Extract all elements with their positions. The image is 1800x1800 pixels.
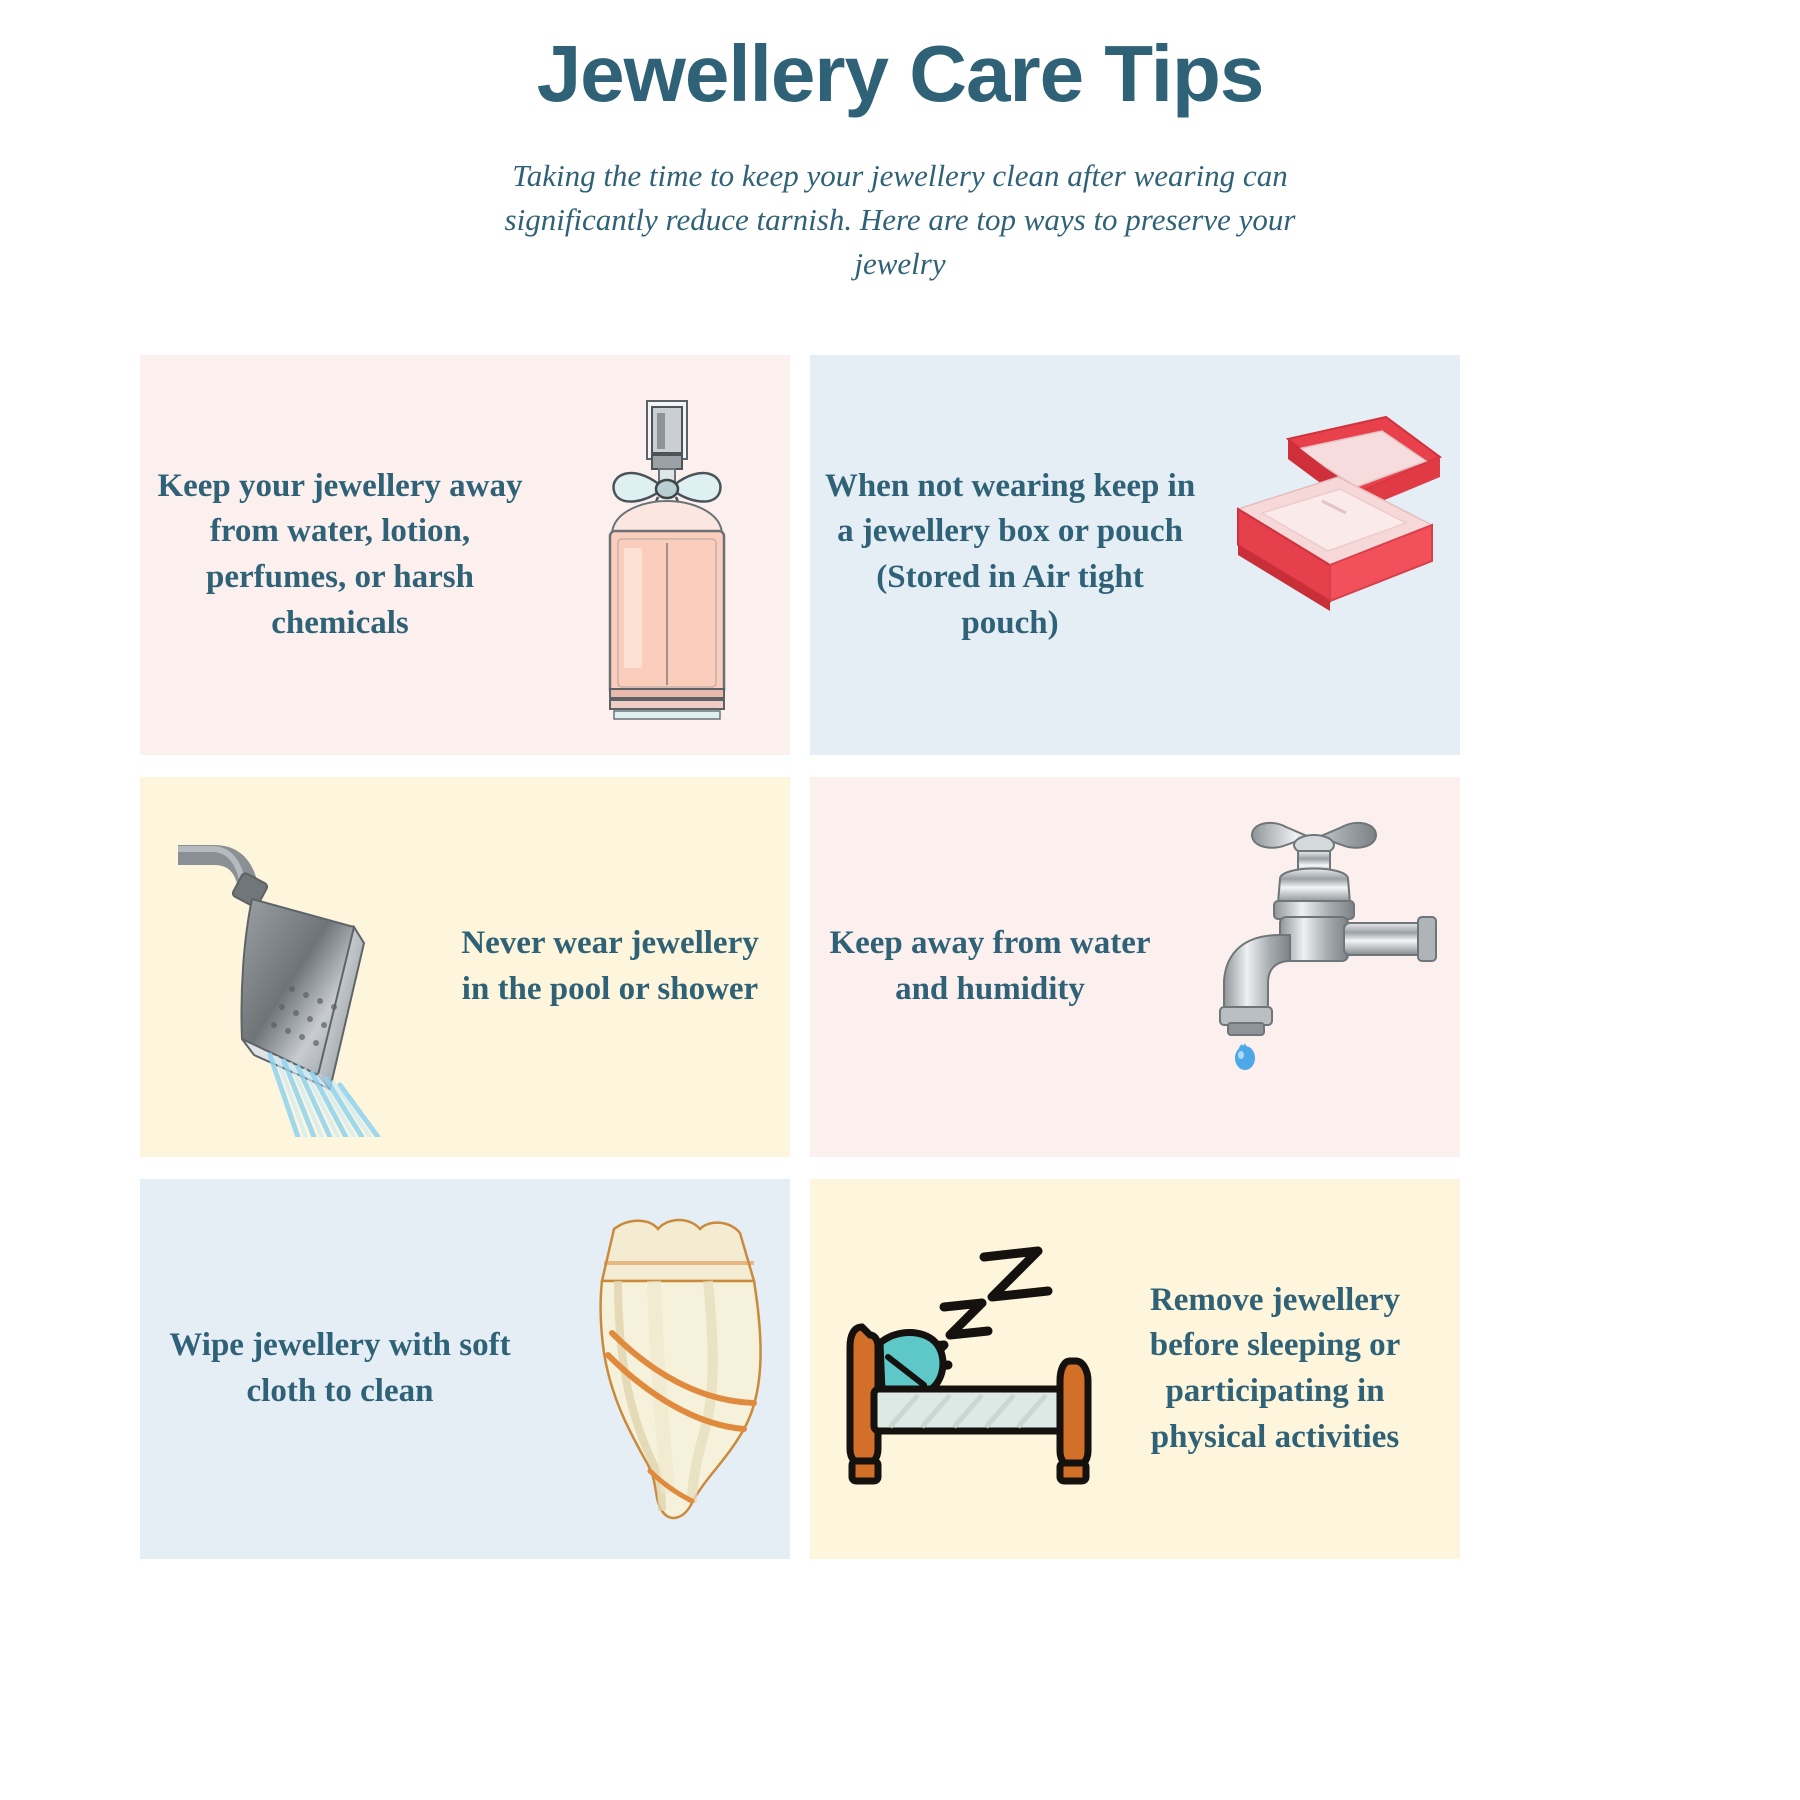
page-subtitle: Taking the time to keep your jewellery c… [500, 154, 1300, 286]
cloth-icon [558, 1203, 788, 1533]
bed-sleeping-icon [832, 1235, 1132, 1485]
tip-card-text: Keep away from water and humidity [810, 921, 1170, 1012]
header: Jewellery Care Tips Taking the time to k… [0, 0, 1800, 286]
tip-card-text: Wipe jewellery with soft cloth to clean [140, 1323, 540, 1414]
tip-card-art [140, 777, 430, 1157]
tip-card-text: Remove jewellery before sleeping or part… [1090, 1278, 1460, 1460]
tip-card-wipe-clean[interactable]: Wipe jewellery with soft cloth to clean [140, 1179, 790, 1559]
tip-card-avoid-humidity[interactable]: Keep away from water and humidity [810, 777, 1460, 1157]
tip-card-art [810, 1179, 1090, 1559]
tip-card-text: Never wear jewellery in the pool or show… [430, 921, 790, 1012]
tips-grid: Keep your jewellery away from water, lot… [140, 355, 1660, 1559]
jewellery-box-icon [1210, 405, 1460, 655]
tip-card-art [1170, 777, 1460, 1157]
tip-card-art [1210, 355, 1460, 755]
tip-card-no-pool-shower[interactable]: Never wear jewellery in the pool or show… [140, 777, 790, 1157]
tip-card-art [540, 1179, 790, 1559]
tip-card-text: When not wearing keep in a jewellery box… [810, 464, 1210, 646]
tip-card-art [540, 355, 790, 755]
shower-head-icon [178, 807, 438, 1137]
tip-card-text: Keep your jewellery away from water, lot… [140, 464, 540, 646]
tip-card-avoid-chemicals[interactable]: Keep your jewellery away from water, lot… [140, 355, 790, 755]
tip-card-store-in-box[interactable]: When not wearing keep in a jewellery box… [810, 355, 1460, 755]
perfume-bottle-icon [552, 393, 782, 723]
page-title: Jewellery Care Tips [0, 28, 1800, 120]
tip-card-remove-before-sleep[interactable]: Remove jewellery before sleeping or part… [810, 1179, 1460, 1559]
faucet-icon [1194, 805, 1444, 1105]
infographic-page: Jewellery Care Tips Taking the time to k… [0, 0, 1800, 1800]
